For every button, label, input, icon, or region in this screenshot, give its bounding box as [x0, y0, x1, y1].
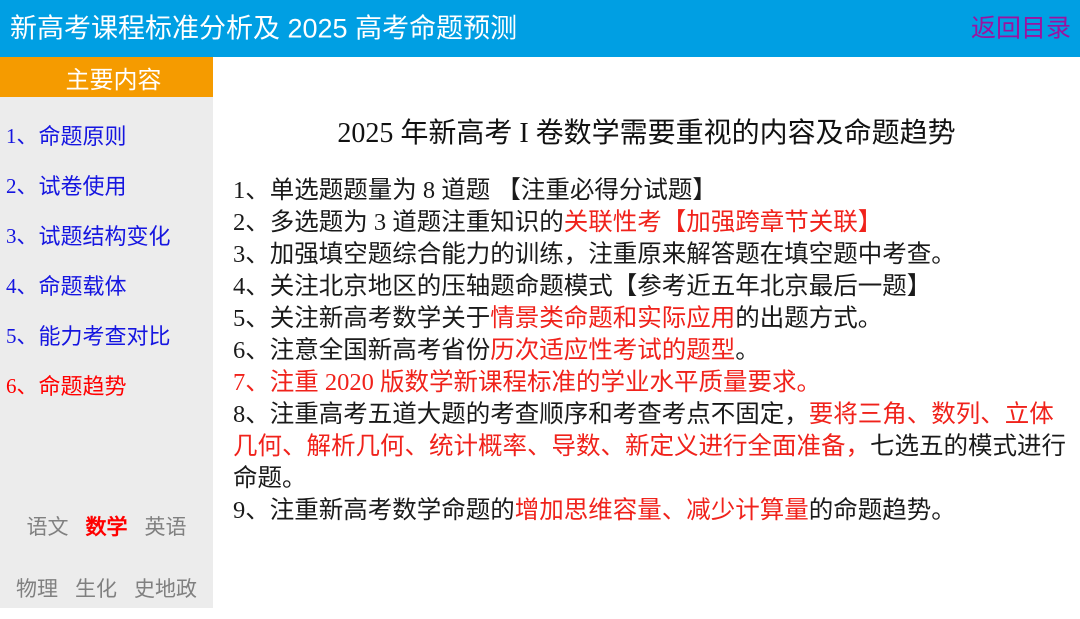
sidebar-item-5[interactable]: 5、 能力考查对比: [0, 310, 213, 360]
content-item-3-seg-1: 3、加强填空题综合能力的训练，注重原来解答题在填空题中考查。: [233, 241, 956, 268]
content-item-4-seg-1: 4、关注北京地区的压轴题命题模式【参考近五年北京最后一题】: [233, 273, 931, 300]
content-item-5-seg-1: 5、关注新高考数学关于: [233, 305, 490, 332]
sidebar-item-4[interactable]: 4、 命题载体: [0, 260, 213, 310]
content-title: 2025 年新高考 I 卷数学需要重视的内容及命题趋势: [213, 111, 1080, 151]
content-item-7-seg-1: 7、注重 2020 版数学新课程标准的学业水平质量要求。: [233, 369, 821, 396]
content-item-4: 4、关注北京地区的压轴题命题模式【参考近五年北京最后一题】: [233, 271, 1071, 303]
content-item-8-seg-1: 8、注重高考五道大题的考查顺序和考查考点不固定，: [233, 401, 809, 428]
sidebar-item-3-index: 3、: [6, 220, 38, 250]
subject-physics[interactable]: 物理: [16, 573, 58, 603]
content-item-6-seg-1: 6、注意全国新高考省份: [233, 337, 490, 364]
sidebar-item-5-index: 5、: [6, 320, 38, 350]
sidebar-item-4-label: 命题载体: [39, 269, 127, 301]
content-item-9-seg-1: 9、注重新高考数学命题的: [233, 497, 515, 524]
content-item-9-seg-3: 的命题趋势。: [809, 497, 956, 524]
sidebar-item-1-label: 命题原则: [39, 119, 127, 151]
sidebar-item-4-index: 4、: [6, 270, 38, 300]
content-item-3: 3、加强填空题综合能力的训练，注重原来解答题在填空题中考查。: [233, 239, 1071, 271]
content-item-1: 1、单选题题量为 8 道题 【注重必得分试题】: [233, 175, 1071, 207]
content-list: 1、单选题题量为 8 道题 【注重必得分试题】 2、多选题为 3 道题注重知识的…: [233, 175, 1071, 527]
content-item-7: 7、注重 2020 版数学新课程标准的学业水平质量要求。: [233, 367, 1071, 399]
content-item-6-seg-2: 历次适应性考试的题型: [490, 337, 735, 364]
content-item-9: 9、注重新高考数学命题的增加思维容量、减少计算量的命题趋势。: [233, 495, 1071, 527]
sidebar-item-5-label: 能力考查对比: [39, 319, 171, 351]
subject-english[interactable]: 英语: [145, 511, 187, 541]
subject-math[interactable]: 数学: [86, 511, 128, 541]
sidebar-item-2-label: 试卷使用: [39, 169, 127, 201]
sidebar-item-3-label: 试题结构变化: [39, 219, 171, 251]
subject-biology-chemistry[interactable]: 生化: [75, 573, 117, 603]
subject-row-1: 语文 数学 英语: [0, 495, 213, 557]
content-item-5: 5、关注新高考数学关于情景类命题和实际应用的出题方式。: [233, 303, 1071, 335]
sidebar-nav-list: 1、 命题原则 2、 试卷使用 3、 试题结构变化 4、 命题载体 5、 能力考…: [0, 110, 213, 410]
sidebar-item-1[interactable]: 1、 命题原则: [0, 110, 213, 160]
content-item-2-seg-1: 2、多选题为 3 道题注重知识的: [233, 209, 564, 236]
sidebar-item-6[interactable]: 6、 命题趋势: [0, 360, 213, 410]
sidebar-header-title: 主要内容: [0, 57, 213, 97]
sidebar: 主要内容 1、 命题原则 2、 试卷使用 3、 试题结构变化 4、 命题载体 5…: [0, 57, 213, 608]
content-item-1-seg-1: 1、单选题题量为 8 道题 【注重必得分试题】: [233, 177, 717, 204]
page-title: 新高考课程标准分析及 2025 高考命题预测: [10, 15, 517, 42]
content-item-6: 6、注意全国新高考省份历次适应性考试的题型。: [233, 335, 1071, 367]
sidebar-item-2-index: 2、: [6, 170, 38, 200]
sidebar-item-3[interactable]: 3、 试题结构变化: [0, 210, 213, 260]
main-content: 2025 年新高考 I 卷数学需要重视的内容及命题趋势 1、单选题题量为 8 道…: [213, 57, 1080, 608]
sidebar-item-6-index: 6、: [6, 370, 38, 400]
sidebar-item-6-label: 命题趋势: [39, 369, 127, 401]
content-item-2-seg-2: 关联性考【加强跨章节关联】: [564, 209, 883, 236]
page-header: 新高考课程标准分析及 2025 高考命题预测 返回目录: [0, 0, 1080, 57]
subject-chinese[interactable]: 语文: [27, 511, 69, 541]
content-item-9-seg-2: 增加思维容量、减少计算量: [515, 497, 809, 524]
content-item-8: 8、注重高考五道大题的考查顺序和考查考点不固定，要将三角、数列、立体几何、解析几…: [233, 399, 1071, 495]
subject-row-2: 物理 生化 史地政: [0, 557, 213, 619]
subject-switcher: 语文 数学 英语 物理 生化 史地政: [0, 495, 213, 619]
sidebar-item-1-index: 1、: [6, 120, 38, 150]
return-to-contents-link[interactable]: 返回目录: [971, 16, 1071, 41]
content-item-2: 2、多选题为 3 道题注重知识的关联性考【加强跨章节关联】: [233, 207, 1071, 239]
content-item-6-seg-3: 。: [735, 337, 760, 364]
content-item-5-seg-2: 情景类命题和实际应用: [490, 305, 735, 332]
content-item-5-seg-3: 的出题方式。: [735, 305, 882, 332]
sidebar-item-2[interactable]: 2、 试卷使用: [0, 160, 213, 210]
subject-history-geography-politics[interactable]: 史地政: [134, 573, 197, 603]
